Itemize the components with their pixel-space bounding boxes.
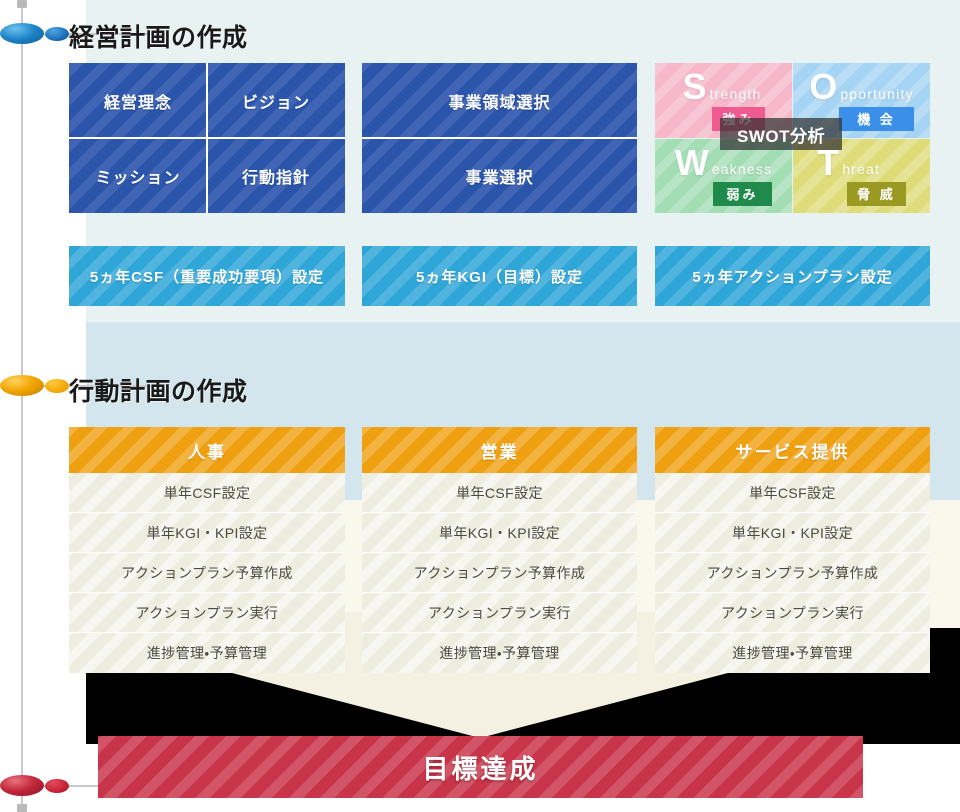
list-item[interactable]: 進捗管理・予算管理 (362, 633, 637, 673)
cell-five-year-csf[interactable]: 5ヵ年CSF（重要成功要項）設定 (69, 246, 345, 306)
list-item[interactable]: 単年KGI・KPI設定 (655, 513, 930, 553)
list-item[interactable]: 単年CSF設定 (69, 473, 345, 513)
list-item[interactable]: 単年KGI・KPI設定 (362, 513, 637, 553)
list-item[interactable]: アクションプラン実行 (69, 593, 345, 633)
list-item[interactable]: 単年KGI・KPI設定 (69, 513, 345, 553)
swot-word-threat: hreat (842, 162, 880, 179)
list-item[interactable]: アクションプラン予算作成 (362, 553, 637, 593)
swot-initial-w: W (675, 146, 709, 179)
cell-vision[interactable]: ビジョン (207, 63, 345, 138)
swot-badge-weakness: 弱み (713, 182, 773, 206)
action-plan-column-hr[interactable]: 人事 単年CSF設定 単年KGI・KPI設定 アクションプラン予算作成 アクショ… (69, 427, 345, 673)
list-item[interactable]: 進捗管理・予算管理 (69, 633, 345, 673)
column-header-sales: 営業 (362, 427, 637, 473)
timeline-dot-large (0, 23, 44, 44)
swot-quadrant-weakness[interactable]: W eakness 弱み (655, 139, 792, 213)
cell-five-year-action-plan[interactable]: 5ヵ年アクションプラン設定 (655, 246, 930, 306)
timeline-dot-large (0, 775, 44, 796)
swot-quadrant-threat[interactable]: T hreat 脅 威 (793, 139, 930, 213)
timeline-dot-small (45, 779, 69, 793)
swot-initial-t: T (817, 146, 839, 179)
timeline-rail-cap-bottom (17, 804, 27, 812)
action-plan-column-service[interactable]: サービス提供 単年CSF設定 単年KGI・KPI設定 アクションプラン予算作成 … (655, 427, 930, 673)
column-header-hr: 人事 (69, 427, 345, 473)
timeline-dot-small (45, 379, 69, 393)
cell-business-selection[interactable]: 事業選択 (362, 138, 637, 213)
swot-analysis-matrix[interactable]: S trength 強み O pportunity 機 会 W eakness (655, 63, 930, 213)
list-item[interactable]: アクションプラン予算作成 (655, 553, 930, 593)
timeline-dot-large (0, 375, 44, 396)
list-item[interactable]: 進捗管理・予算管理 (655, 633, 930, 673)
list-item[interactable]: アクションプラン実行 (362, 593, 637, 633)
diagram-canvas: 経営計画の作成 経営理念 ビジョン ミッション 行動指針 事業領域選択 事業選択… (0, 0, 960, 812)
timeline-rail (21, 0, 23, 812)
list-item[interactable]: 単年CSF設定 (362, 473, 637, 513)
grid-divider-horizontal (362, 137, 637, 139)
swot-center-label: SWOT分析 (720, 118, 842, 150)
swot-word-weakness: eakness (712, 162, 773, 179)
timeline-dot-small (45, 27, 69, 41)
grid-divider-horizontal (69, 137, 345, 139)
section-heading-management-plan: 経営計画の作成 (69, 18, 248, 54)
goal-banner[interactable]: 目標達成 (98, 736, 863, 798)
column-header-service: サービス提供 (655, 427, 930, 473)
swot-initial-o: O (809, 70, 837, 103)
swot-word-opportunity: pportunity (840, 87, 913, 104)
cell-action-guideline[interactable]: 行動指針 (207, 138, 345, 213)
swot-word-strength: trength (710, 87, 762, 104)
swot-badge-opportunity: 機 会 (839, 107, 914, 131)
swot-initial-s: S (682, 70, 706, 103)
section-heading-action-plan: 行動計画の作成 (69, 372, 248, 408)
timeline-rail-cap-top (17, 0, 27, 8)
cell-management-philosophy[interactable]: 経営理念 (69, 63, 207, 138)
list-item[interactable]: アクションプラン実行 (655, 593, 930, 633)
cell-mission[interactable]: ミッション (69, 138, 207, 213)
cell-five-year-kgi[interactable]: 5ヵ年KGI（目標）設定 (362, 246, 637, 306)
action-plan-column-sales[interactable]: 営業 単年CSF設定 単年KGI・KPI設定 アクションプラン予算作成 アクショ… (362, 427, 637, 673)
list-item[interactable]: アクションプラン予算作成 (69, 553, 345, 593)
cell-business-domain-selection[interactable]: 事業領域選択 (362, 63, 637, 138)
list-item[interactable]: 単年CSF設定 (655, 473, 930, 513)
swot-badge-threat: 脅 威 (847, 182, 906, 206)
